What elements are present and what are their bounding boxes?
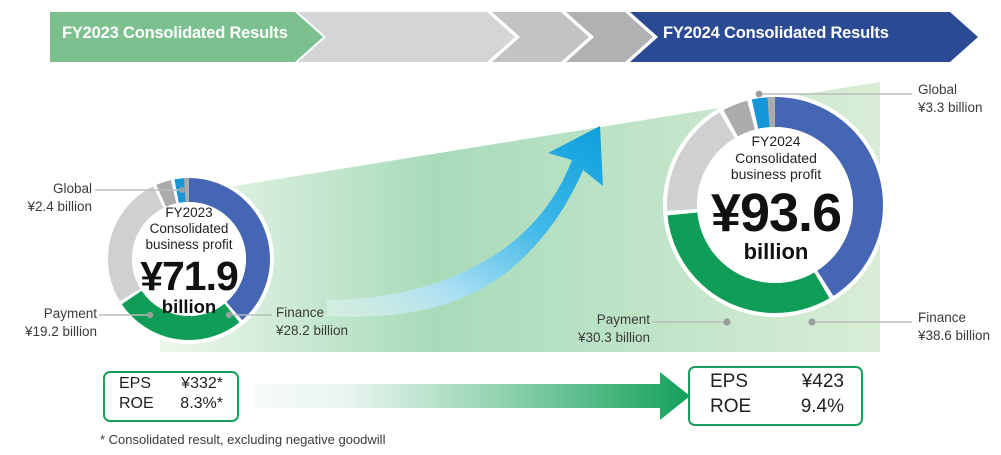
donut-r-line1: FY2024 [688, 133, 864, 150]
metrics-progress-arrow [255, 372, 690, 420]
leader-dot-finance-right [808, 318, 815, 325]
label-global-fy2024: Global ¥3.3 billion [918, 81, 983, 117]
leader-dot-global-right [756, 91, 763, 98]
donut-center-fy2024: FY2024 Consolidated business profit ¥93.… [688, 133, 864, 266]
donut-r-line2: Consolidated [688, 150, 864, 167]
label-finance-fy2024-value: ¥38.6 billion [918, 327, 990, 345]
label-payment-fy2024-value: ¥30.3 billion [545, 329, 650, 347]
donut-r-amount: ¥93.6 [688, 187, 864, 240]
donut-r-unit: billion [688, 239, 864, 265]
donut-l-unit: billion [119, 296, 259, 317]
metrics-box-fy2023: EPS ¥332* ROE 8.3%* [103, 371, 239, 422]
donut-l-line3: business profit [119, 237, 259, 253]
label-finance-fy2023-value: ¥28.2 billion [276, 322, 348, 340]
donut-l-amount: ¥71.9 [119, 256, 259, 296]
metric-row-eps-fy2023: EPS ¥332* [105, 373, 237, 393]
label-payment-fy2023: Payment ¥19.2 billion [0, 305, 97, 341]
label-global-fy2023-value: ¥2.4 billion [0, 198, 92, 216]
footnote: * Consolidated result, excluding negativ… [100, 432, 385, 447]
label-payment-fy2023-title: Payment [0, 305, 97, 323]
leader-dot-global-left [179, 187, 185, 193]
metric-row-eps-fy2024: EPS ¥423 [690, 368, 861, 393]
label-finance-fy2024: Finance ¥38.6 billion [918, 309, 990, 345]
metric-roe-value-fy2023: 8.3%* [161, 395, 223, 413]
label-finance-fy2023: Finance ¥28.2 billion [276, 304, 348, 340]
metric-roe-value-fy2024: 9.4% [762, 396, 844, 418]
label-finance-fy2023-title: Finance [276, 304, 348, 322]
metric-roe-key-fy2023: ROE [119, 395, 161, 413]
chevron-step-light [298, 12, 515, 62]
label-payment-fy2024-title: Payment [545, 311, 650, 329]
slide-root: FY2023 Consolidated Results FY2024 Conso… [0, 0, 1001, 455]
label-global-fy2023: Global ¥2.4 billion [0, 180, 92, 216]
donut-l-line2: Consolidated [119, 221, 259, 237]
metric-eps-value-fy2023: ¥332* [161, 375, 223, 393]
header-chevron-left-label: FY2023 Consolidated Results [62, 24, 288, 43]
metric-roe-key-fy2024: ROE [710, 396, 762, 418]
metrics-box-fy2024: EPS ¥423 ROE 9.4% [688, 366, 863, 426]
label-payment-fy2024: Payment ¥30.3 billion [545, 311, 650, 347]
label-payment-fy2023-value: ¥19.2 billion [0, 323, 97, 341]
donut-center-fy2023: FY2023 Consolidated business profit ¥71.… [119, 205, 259, 317]
metric-eps-value-fy2024: ¥423 [762, 371, 844, 393]
metric-row-roe-fy2023: ROE 8.3%* [105, 393, 237, 413]
label-global-fy2024-value: ¥3.3 billion [918, 99, 983, 117]
label-finance-fy2024-title: Finance [918, 309, 990, 327]
header-chevron-right-label: FY2024 Consolidated Results [663, 24, 889, 43]
donut-l-line1: FY2023 [119, 205, 259, 221]
label-global-fy2023-title: Global [0, 180, 92, 198]
donut-r-line3: business profit [688, 166, 864, 183]
metric-eps-key-fy2023: EPS [119, 375, 161, 393]
leader-dot-payment-right [723, 318, 730, 325]
metric-eps-key-fy2024: EPS [710, 371, 762, 393]
metric-row-roe-fy2024: ROE 9.4% [690, 393, 861, 418]
label-global-fy2024-title: Global [918, 81, 983, 99]
